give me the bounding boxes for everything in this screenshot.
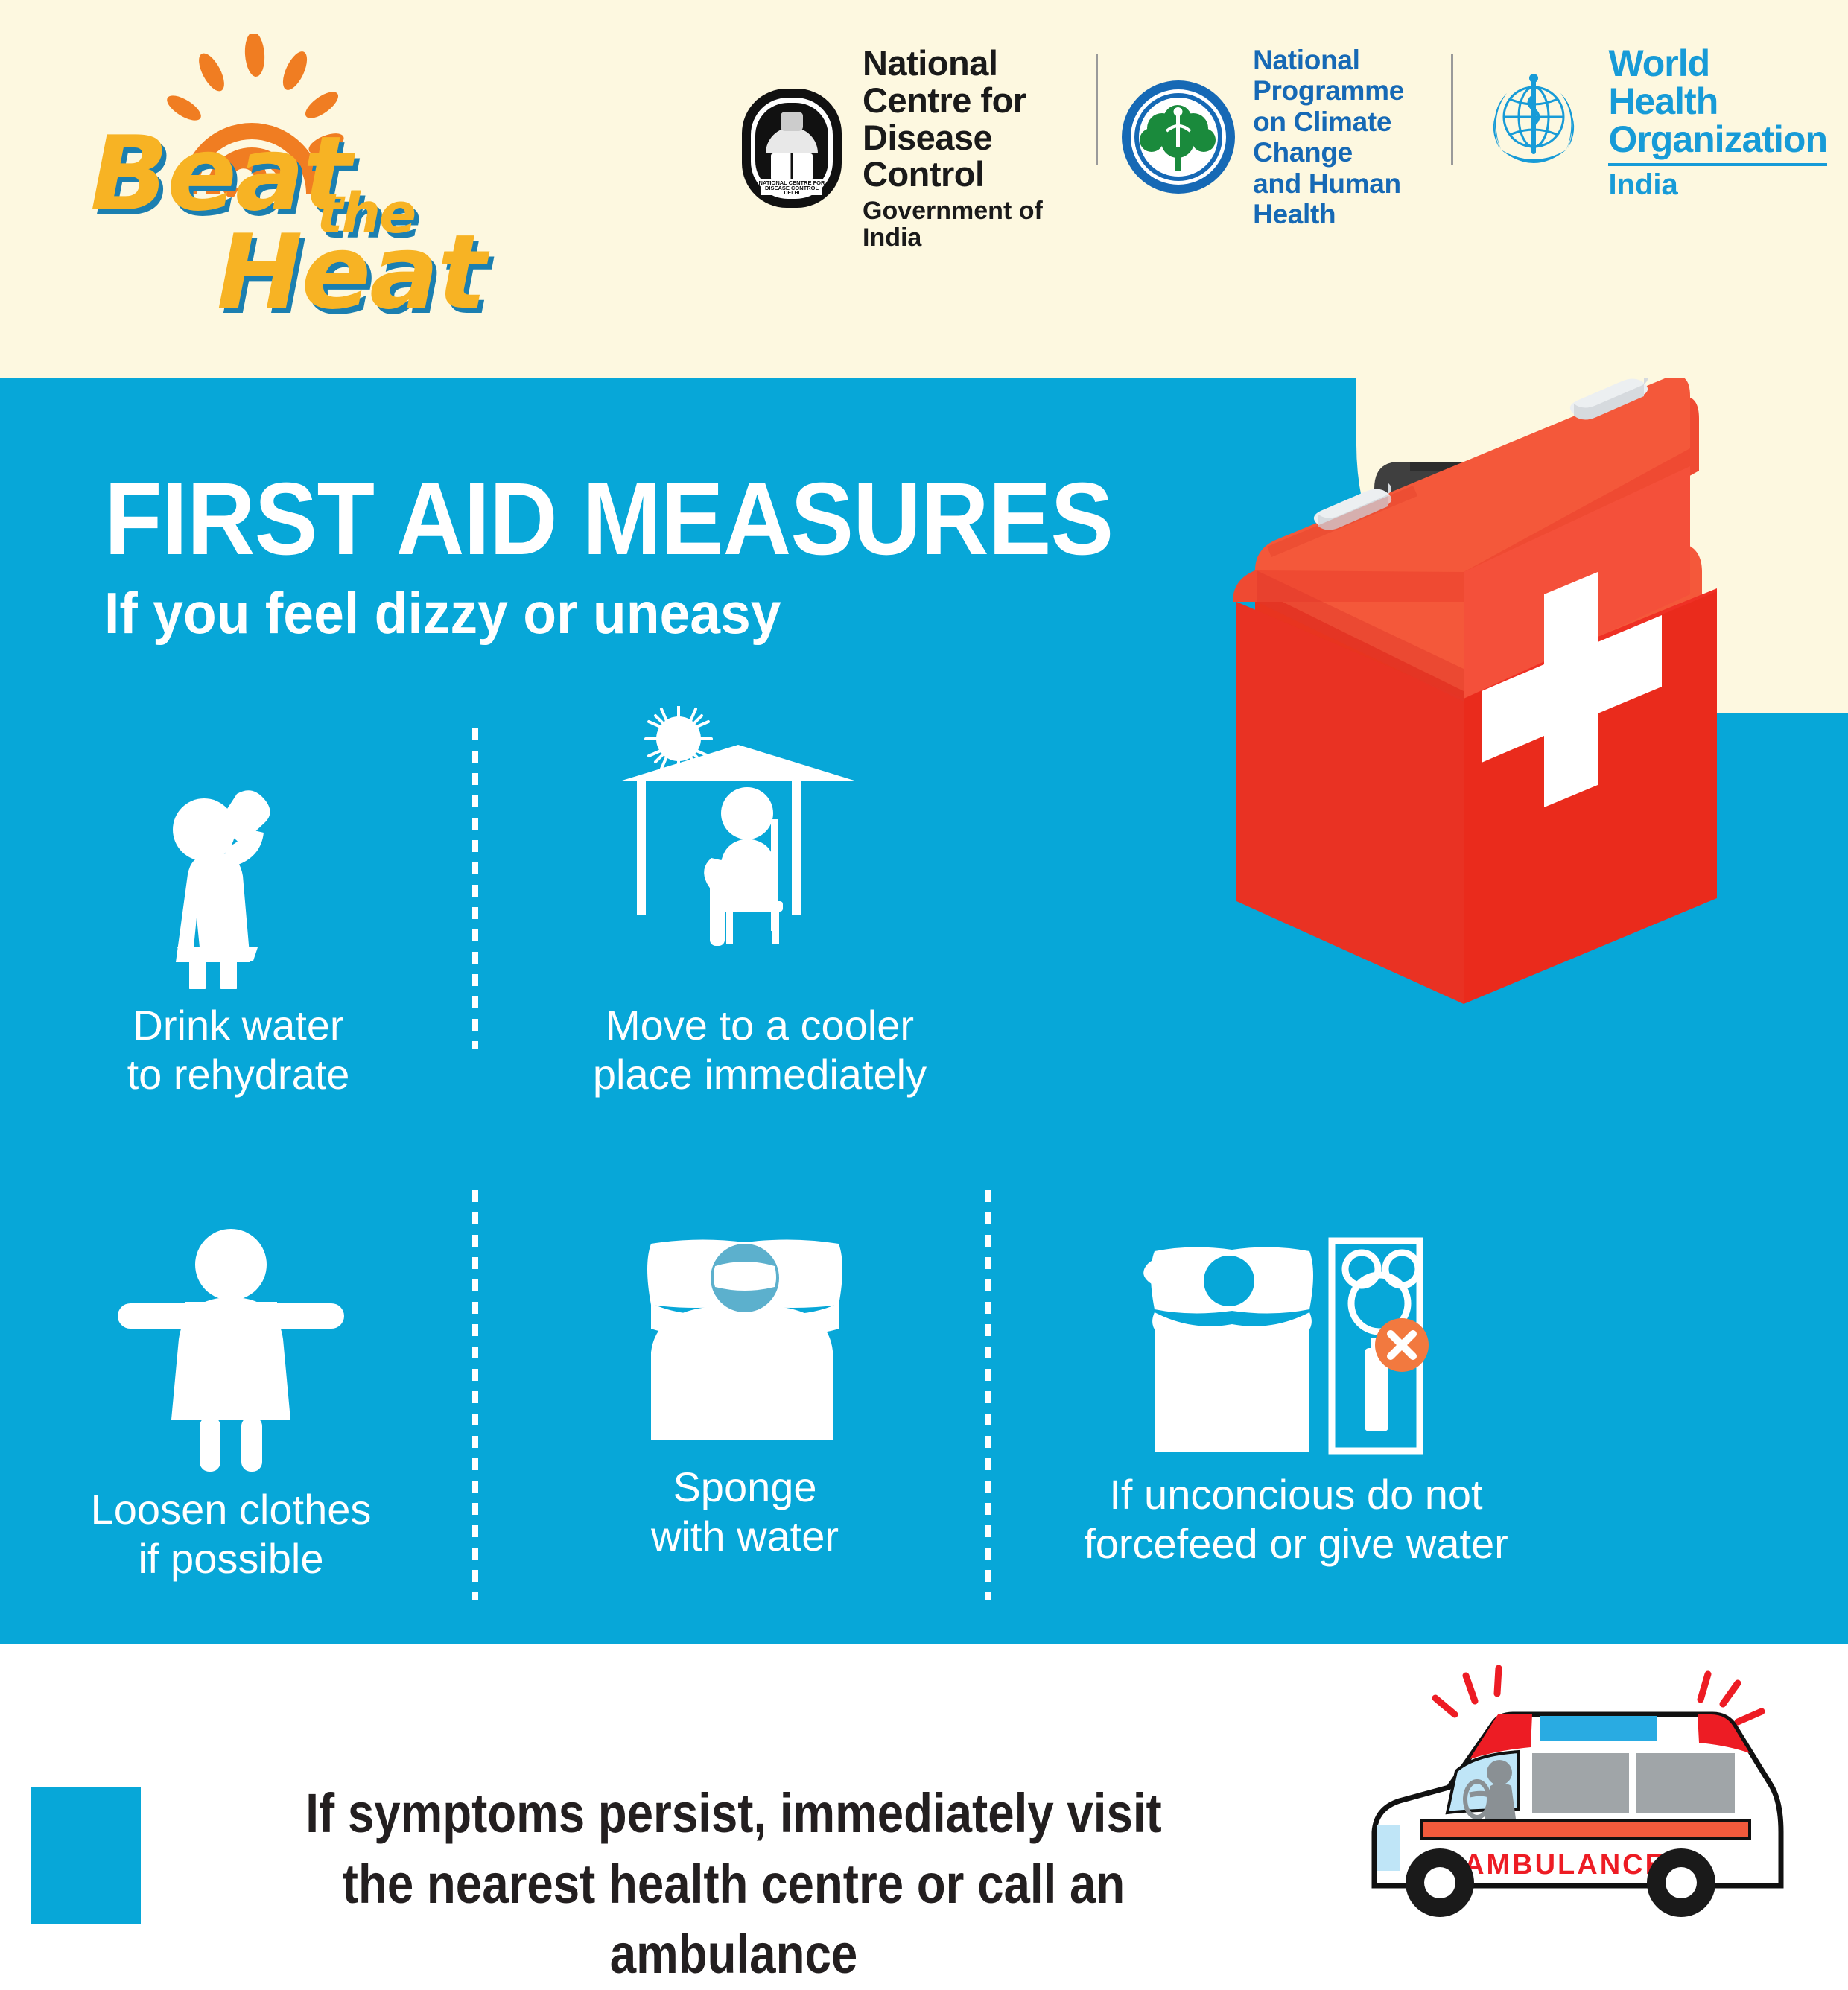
- tile-divider-1: [472, 728, 478, 1049]
- ambulance-label: AMBULANCE: [1464, 1849, 1666, 1881]
- who-title-line2: Organization: [1608, 121, 1827, 159]
- tile-divider-3: [985, 1190, 991, 1600]
- tile-sponge-water: Sponge with water: [521, 1235, 968, 1561]
- tile-move-cooler: Move to a cooler place immediately: [521, 706, 998, 1099]
- page-subtitle: If you feel dizzy or uneasy: [104, 579, 781, 647]
- tile-art: [1035, 1235, 1557, 1458]
- partner-logo-row: NATIONAL CENTRE FOR DISEASE CONTROL DELH…: [715, 45, 1848, 251]
- tile-drink-water: Drink water to rehydrate: [45, 766, 432, 1099]
- logo-who: World Health Organization India: [1453, 45, 1848, 200]
- person-sitting-under-shelter-icon: [615, 706, 905, 989]
- who-rule: [1608, 163, 1827, 166]
- logo-npcchh: National Programme on Climate Change and…: [1098, 45, 1451, 230]
- footer-accent-swatch: [31, 1787, 141, 1924]
- tile-art: [521, 706, 998, 989]
- logo-word-heat: Heat: [217, 221, 485, 324]
- npcchh-title-line3: and Human Health: [1253, 168, 1430, 230]
- page-title: FIRST AID MEASURES: [104, 460, 1113, 579]
- tile-caption: If unconcious do not forcefeed or give w…: [1035, 1470, 1557, 1568]
- tile-caption: Sponge with water: [521, 1463, 968, 1561]
- tile-art: [45, 766, 432, 989]
- person-in-bed-with-cloth-icon: [633, 1235, 857, 1451]
- npcchh-title-line1: National Programme: [1253, 45, 1430, 107]
- tile-unconscious-no-water: If unconcious do not forcefeed or give w…: [1035, 1235, 1557, 1568]
- ncdc-subtitle: Government of India: [863, 197, 1075, 251]
- who-subtitle: India: [1608, 169, 1827, 200]
- ambulance-icon: AMBULANCE: [1344, 1659, 1836, 1920]
- npcchh-emblem-icon: [1119, 77, 1238, 197]
- person-arms-outstretched-icon: [104, 1220, 358, 1473]
- tile-caption: Drink water to rehydrate: [45, 1001, 432, 1099]
- ncdc-title-line1: National Centre for: [863, 45, 1075, 119]
- svg-text:DELHI: DELHI: [784, 191, 800, 196]
- tile-caption: Loosen clothes if possible: [22, 1485, 439, 1583]
- first-aid-kit-icon: [1121, 378, 1836, 1071]
- header-bar: Beat the Heat NATIONAL CENTRE FOR DISEAS…: [0, 0, 1848, 378]
- unconscious-person-no-water-icon: [1140, 1235, 1452, 1458]
- ncdc-title-line2: Disease Control: [863, 119, 1075, 194]
- ncdc-emblem-icon: NATIONAL CENTRE FOR DISEASE CONTROL DELH…: [736, 85, 848, 212]
- beat-the-heat-logo: Beat the Heat: [78, 34, 466, 317]
- logo-ncdc: NATIONAL CENTRE FOR DISEASE CONTROL DELH…: [715, 45, 1096, 251]
- logo-word-beat: Beat: [90, 123, 351, 226]
- first-aid-panel: FIRST AID MEASURES If you feel dizzy or …: [0, 378, 1848, 1644]
- footer-bar: If symptoms persist, immediately visit t…: [0, 1644, 1848, 1923]
- npcchh-title-line2: on Climate Change: [1253, 107, 1430, 168]
- who-title-line1: World Health: [1608, 45, 1827, 121]
- tile-art: [22, 1220, 439, 1473]
- who-emblem-icon: [1474, 63, 1593, 182]
- footer-message: If symptoms persist, immediately visit t…: [263, 1778, 1204, 1990]
- tile-caption: Move to a cooler place immediately: [521, 1001, 998, 1099]
- tile-art: [521, 1235, 968, 1451]
- person-drinking-water-icon: [127, 766, 350, 989]
- tile-loosen-clothes: Loosen clothes if possible: [22, 1220, 439, 1583]
- tile-divider-2: [472, 1190, 478, 1600]
